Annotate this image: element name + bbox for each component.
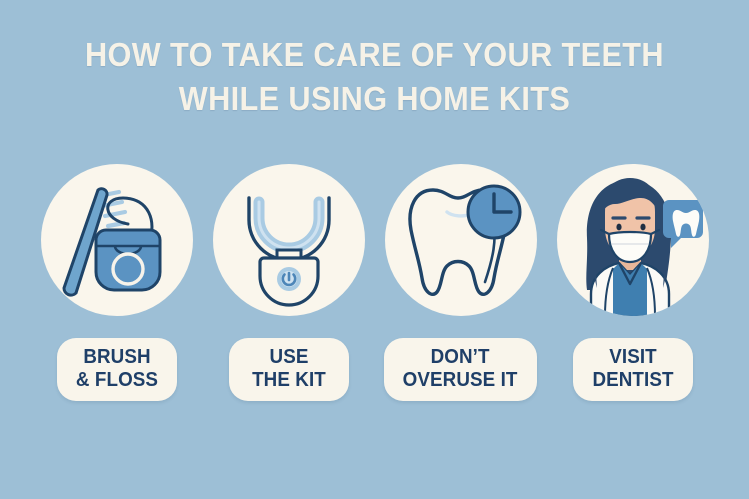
- title-line-1: HOW TO TAKE CARE OF YOUR TEETH: [26, 38, 723, 73]
- title-line-2: WHILE USING HOME KITS: [26, 82, 723, 117]
- label-line-2: THE KIT: [246, 369, 331, 392]
- step-label-dont-overuse[interactable]: DON’T OVERUSE IT: [384, 338, 536, 401]
- label-line-1: BRUSH: [74, 346, 159, 369]
- dentist-with-tooth-bubble-icon: [557, 164, 709, 316]
- led-whitening-tray-icon: [213, 164, 365, 316]
- icon-circle-visit-dentist: [557, 164, 709, 316]
- label-line-1: DON’T: [403, 346, 518, 369]
- step-label-visit-dentist[interactable]: VISIT DENTIST: [573, 338, 693, 401]
- step-card-visit-dentist[interactable]: VISIT DENTIST: [557, 164, 709, 401]
- page-title: HOW TO TAKE CARE OF YOUR TEETH WHILE USI…: [0, 38, 749, 116]
- label-line-1: USE: [246, 346, 331, 369]
- label-line-2: & FLOSS: [74, 369, 159, 392]
- label-line-2: OVERUSE IT: [403, 369, 518, 392]
- step-card-brush-floss[interactable]: BRUSH & FLOSS: [41, 164, 193, 401]
- toothbrush-and-floss-icon: [41, 164, 193, 316]
- icon-circle-dont-overuse: [385, 164, 537, 316]
- step-card-dont-overuse[interactable]: DON’T OVERUSE IT: [385, 164, 537, 401]
- step-card-use-kit[interactable]: USE THE KIT: [213, 164, 365, 401]
- infographic-poster: HOW TO TAKE CARE OF YOUR TEETH WHILE USI…: [0, 0, 749, 499]
- step-label-use-kit[interactable]: USE THE KIT: [229, 338, 349, 401]
- icon-circle-brush-floss: [41, 164, 193, 316]
- label-line-2: DENTIST: [590, 369, 675, 392]
- step-label-brush-floss[interactable]: BRUSH & FLOSS: [57, 338, 177, 401]
- label-line-1: VISIT: [590, 346, 675, 369]
- steps-row: BRUSH & FLOSS: [0, 164, 749, 401]
- icon-circle-use-kit: [213, 164, 365, 316]
- tooth-with-clock-icon: [385, 164, 537, 316]
